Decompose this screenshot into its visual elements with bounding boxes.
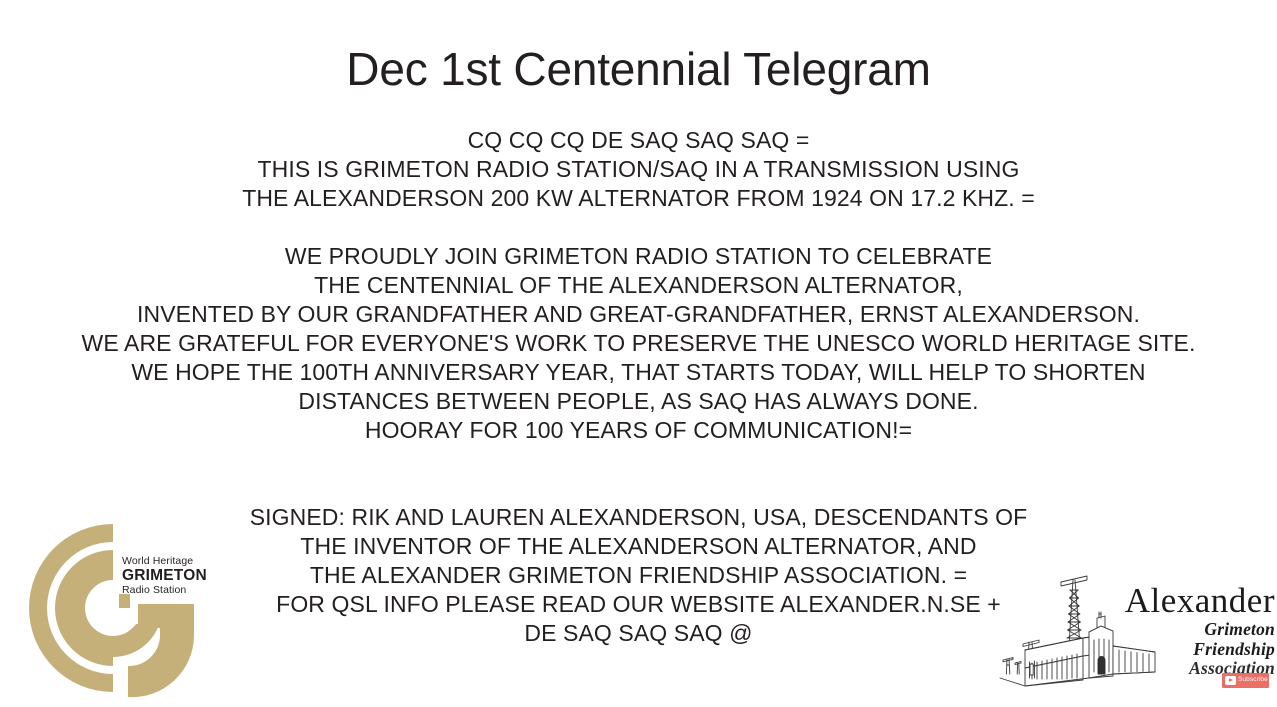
grimeton-line-world-heritage: World Heritage — [122, 556, 214, 567]
grimeton-logo-text: World Heritage GRIMETON Radio Station — [122, 556, 214, 596]
alexander-friendship-association-logo: Alexander Grimeton Friendship Associatio… — [995, 568, 1275, 688]
telegram-line: THIS IS GRIMETON RADIO STATION/SAQ IN A … — [0, 155, 1277, 184]
telegram-line: DISTANCES BETWEEN PEOPLE, AS SAQ HAS ALW… — [0, 387, 1277, 416]
alexander-sub-friendship: Friendship — [1095, 640, 1275, 660]
grimeton-line-radio-station: Radio Station — [122, 585, 214, 596]
grimeton-world-heritage-logo: World Heritage GRIMETON Radio Station — [18, 516, 218, 701]
alexander-wordmark: Alexander Grimeton Friendship Associatio… — [1095, 582, 1275, 679]
youtube-play-icon — [1225, 676, 1236, 685]
telegram-blank-line — [0, 474, 1277, 503]
alexander-sub-grimeton: Grimeton — [1095, 620, 1275, 640]
telegram-blank-line — [0, 213, 1277, 242]
grimeton-line-grimeton: GRIMETON — [122, 568, 214, 584]
telegram-line: THE ALEXANDERSON 200 KW ALTERNATOR FROM … — [0, 184, 1277, 213]
grimeton-g-mark-icon — [18, 516, 218, 701]
telegram-line: INVENTED BY OUR GRANDFATHER AND GREAT-GR… — [0, 300, 1277, 329]
slide-canvas: Dec 1st Centennial Telegram CQ CQ CQ DE … — [0, 0, 1277, 707]
telegram-line: HOORAY FOR 100 YEARS OF COMMUNICATION!= — [0, 416, 1277, 445]
telegram-blank-line — [0, 445, 1277, 474]
page-title: Dec 1st Centennial Telegram — [0, 40, 1277, 98]
telegram-line: WE PROUDLY JOIN GRIMETON RADIO STATION T… — [0, 242, 1277, 271]
telegram-line: WE ARE GRATEFUL FOR EVERYONE'S WORK TO P… — [0, 329, 1277, 358]
youtube-subscribe-watermark-button[interactable]: Subscribe — [1222, 673, 1269, 688]
telegram-line: THE CENTENNIAL OF THE ALEXANDERSON ALTER… — [0, 271, 1277, 300]
telegram-line: CQ CQ CQ DE SAQ SAQ SAQ = — [0, 126, 1277, 155]
telegram-line: WE HOPE THE 100TH ANNIVERSARY YEAR, THAT… — [0, 358, 1277, 387]
subscribe-label: Subscribe — [1238, 677, 1268, 684]
alexander-name-text: Alexander — [1095, 582, 1275, 620]
